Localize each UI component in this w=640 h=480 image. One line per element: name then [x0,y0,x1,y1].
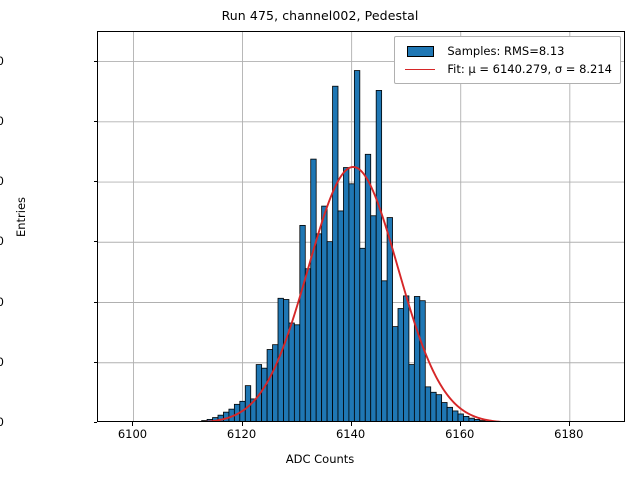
y-tick-mark [94,121,98,122]
y-tick-label: 100000 [0,355,4,369]
legend-label-samples: Samples: RMS=8.13 [447,44,564,58]
y-tick-mark [94,61,98,62]
x-axis-label: ADC Counts [0,452,640,466]
y-tick-label: 300000 [0,234,4,248]
y-tick-mark [94,422,98,423]
x-tick-mark [351,422,352,426]
y-tick-mark [94,181,98,182]
y-tick-mark [94,302,98,303]
figure-canvas: Run 475, channel002, Pedestal Entries AD… [0,0,640,480]
x-tick-label: 6160 [445,427,474,441]
legend-patch-swatch-icon [402,46,438,57]
x-tick-mark [460,422,461,426]
legend-label-fit: Fit: μ = 6140.279, σ = 8.214 [447,62,612,76]
legend-entry-samples[interactable]: Samples: RMS=8.13 [402,42,612,60]
x-tick-label: 6120 [227,427,256,441]
x-tick-mark [242,422,243,426]
y-tick-label: 500000 [0,114,4,128]
y-tick-label: 600000 [0,54,4,68]
plot-surface [98,32,624,421]
x-tick-mark [132,422,133,426]
x-tick-label: 6140 [336,427,365,441]
y-tick-label: 400000 [0,174,4,188]
x-tick-label: 6100 [118,427,147,441]
gaussian-fit-curve [98,32,624,421]
x-tick-mark [569,422,570,426]
y-tick-label: 200000 [0,295,4,309]
legend-line-swatch-icon [402,69,438,70]
chart-title: Run 475, channel002, Pedestal [0,8,640,23]
y-tick-label: 0 [0,415,4,429]
y-axis-label: Entries [14,17,28,417]
y-tick-mark [94,241,98,242]
plot-axes [97,31,625,422]
y-tick-mark [94,362,98,363]
legend-entry-fit[interactable]: Fit: μ = 6140.279, σ = 8.214 [402,60,612,78]
x-tick-label: 6180 [554,427,583,441]
chart-legend[interactable]: Samples: RMS=8.13 Fit: μ = 6140.279, σ =… [394,36,621,84]
